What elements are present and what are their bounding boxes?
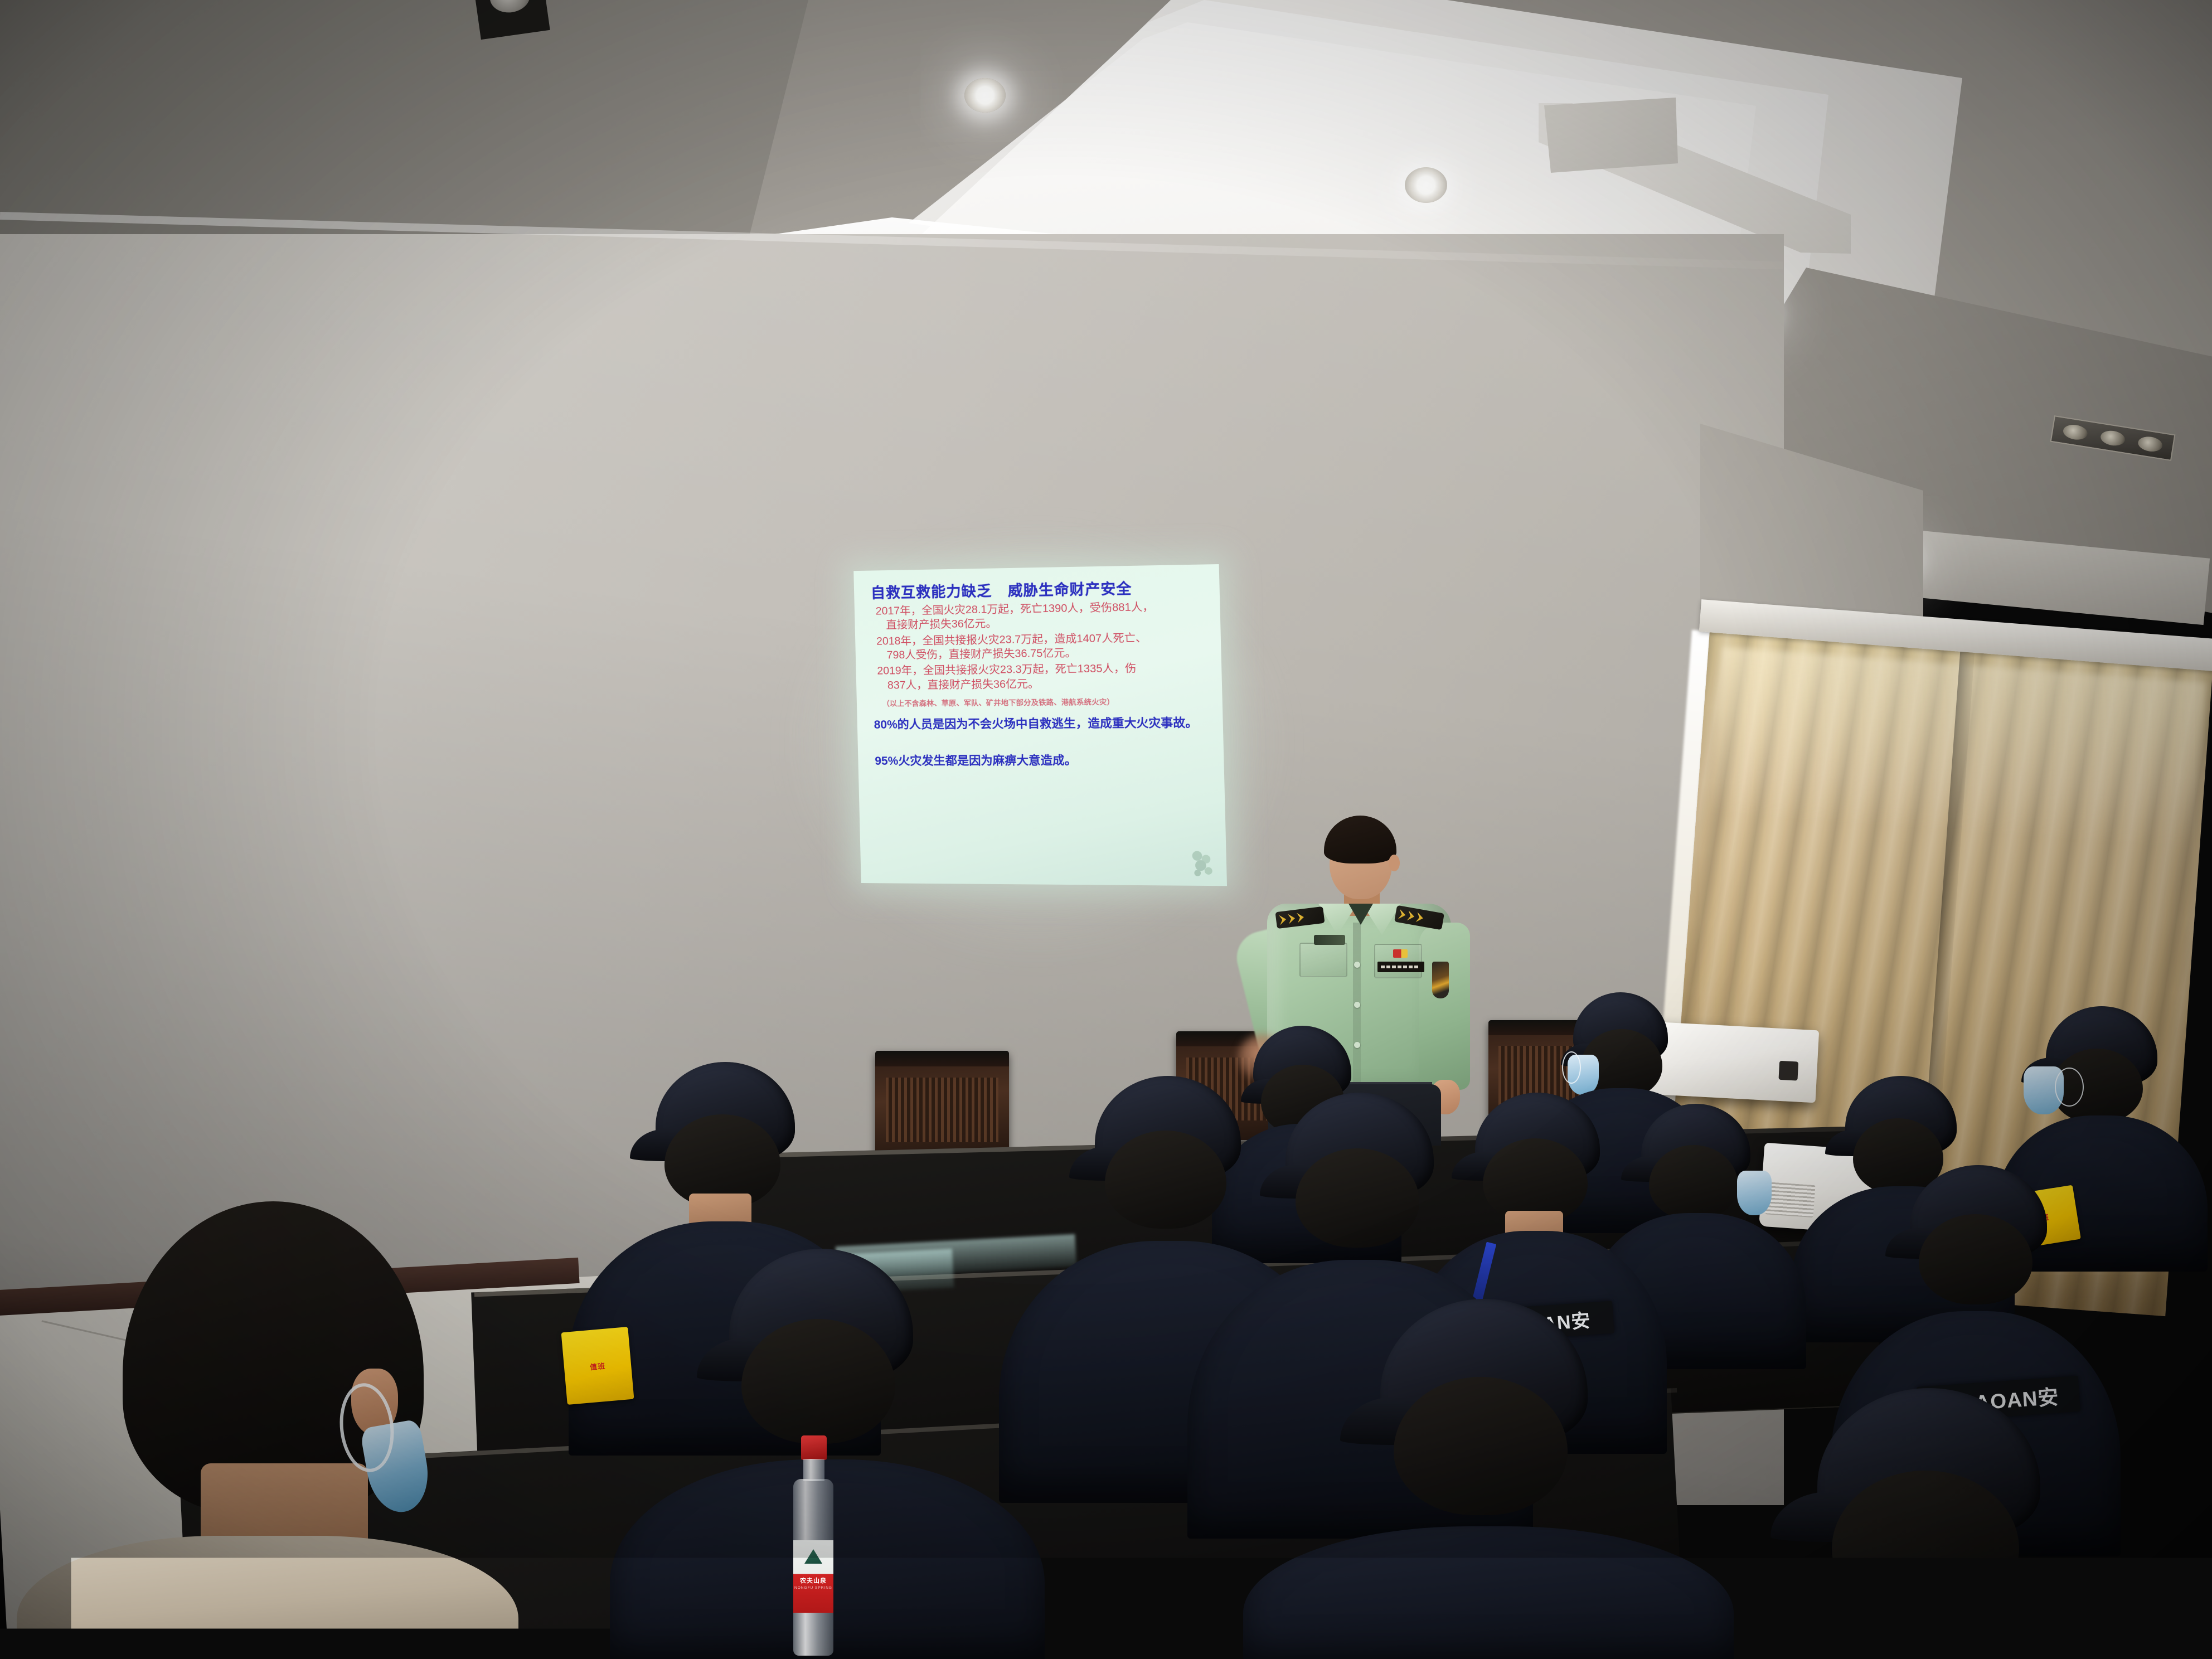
- head: [1105, 1131, 1226, 1229]
- head: [1919, 1214, 2032, 1304]
- shirt-button-icon: [1354, 1002, 1360, 1008]
- duty-armband: 值班: [561, 1327, 634, 1405]
- bottle-cap: [801, 1435, 827, 1460]
- bottle-brand-en: NONGFU SPRING: [793, 1586, 833, 1590]
- audience-member: [1717, 1388, 2141, 1659]
- mountain-icon: [804, 1549, 822, 1564]
- head: [1649, 1145, 1738, 1220]
- stat-2019-line1: 2019年，全国共接报火灾23.3万起，死亡1335人，伤: [877, 662, 1136, 677]
- bottle-neck: [803, 1459, 824, 1481]
- slide-stat-2019: 2019年，全国共接报火灾23.3万起，死亡1335人，伤 837人，直接财产损…: [872, 661, 1207, 693]
- mask-strap: [1562, 1051, 1581, 1084]
- presenter-ear: [1389, 855, 1400, 871]
- stat-2019-line2: 837人，直接财产损失36亿元。: [873, 676, 1207, 693]
- projected-slide: 自救互救能力缺乏 威胁生命财产安全 2017年，全国火灾28.1万起，死亡139…: [853, 564, 1227, 886]
- slide-footnote: （以上不含森林、草原、军队、矿井地下部分及铁路、港航系统火灾）: [874, 695, 1207, 709]
- slide-watermark-icon: [1185, 847, 1219, 880]
- presenter-shoulder-patch-icon: [1432, 962, 1449, 998]
- conference-room-photo: 自救互救能力缺乏 威胁生命财产安全 2017年，全国火灾28.1万起，死亡139…: [0, 0, 2212, 1659]
- downlight-icon: [964, 78, 1006, 113]
- face-mask: [1737, 1171, 1772, 1215]
- shoulders: [1243, 1526, 1734, 1659]
- slide-stat-2017: 2017年，全国火灾28.1万起，死亡1390人，受伤881人， 直接财产损失3…: [871, 599, 1206, 633]
- presenter-chest-badge: [1314, 935, 1345, 945]
- bottle-label: 农夫山泉 NONGFU SPRING: [793, 1540, 833, 1613]
- head: [1296, 1148, 1419, 1248]
- audience-member: [1293, 1299, 1684, 1659]
- stat-2017-line1: 2017年，全国火灾28.1万起，死亡1390人，受伤881人，: [876, 601, 1154, 618]
- mask-strap: [2055, 1068, 2084, 1107]
- shoulders: [1672, 1622, 2185, 1659]
- chair[interactable]: [875, 1051, 1009, 1162]
- slide-title: 自救互救能力缺乏 威胁生命财产安全: [871, 579, 1205, 601]
- slide-highlight-95: 95%火灾发生都是因为麻痹大意造成。: [875, 753, 1209, 769]
- shirt-button-icon: [1354, 962, 1360, 968]
- presenter-hair: [1324, 816, 1396, 864]
- slide-body: 2017年，全国火灾28.1万起，死亡1390人，受伤881人， 直接财产损失3…: [871, 599, 1209, 769]
- foreground-attendee: [61, 1201, 485, 1659]
- slide-stat-2018: 2018年，全国共接报火灾23.7万起，造成1407人死亡、 798人受伤，直接…: [872, 630, 1206, 663]
- slide-highlight-80: 80%的人员是因为不会火场中自救逃生，造成重大火灾事故。: [874, 716, 1207, 733]
- bottle-brand-cn: 农夫山泉: [793, 1576, 833, 1585]
- presenter-chest-pocket-left: [1299, 943, 1347, 977]
- head: [741, 1319, 895, 1444]
- stat-2018-line1: 2018年，全国共接报火灾23.7万起，造成1407人死亡、: [876, 632, 1147, 647]
- slide-title-left: 自救互救能力缺乏: [871, 583, 992, 602]
- water-bottle: 农夫山泉 NONGFU SPRING: [790, 1435, 837, 1656]
- stat-2018-line2: 798人受伤，直接财产损失36.75亿元。: [872, 644, 1206, 662]
- armband-label: 值班: [589, 1360, 606, 1371]
- shoulders: [17, 1536, 518, 1659]
- presenter-flag-pin-icon: [1393, 949, 1408, 958]
- presenter-name-tag: [1377, 962, 1424, 972]
- downlight-icon: [1405, 167, 1447, 203]
- slide-title-right: 威胁生命财产安全: [1008, 581, 1132, 600]
- presenter-right-arm: [1419, 923, 1470, 1090]
- ceiling-soffit-notch: [1544, 98, 1678, 173]
